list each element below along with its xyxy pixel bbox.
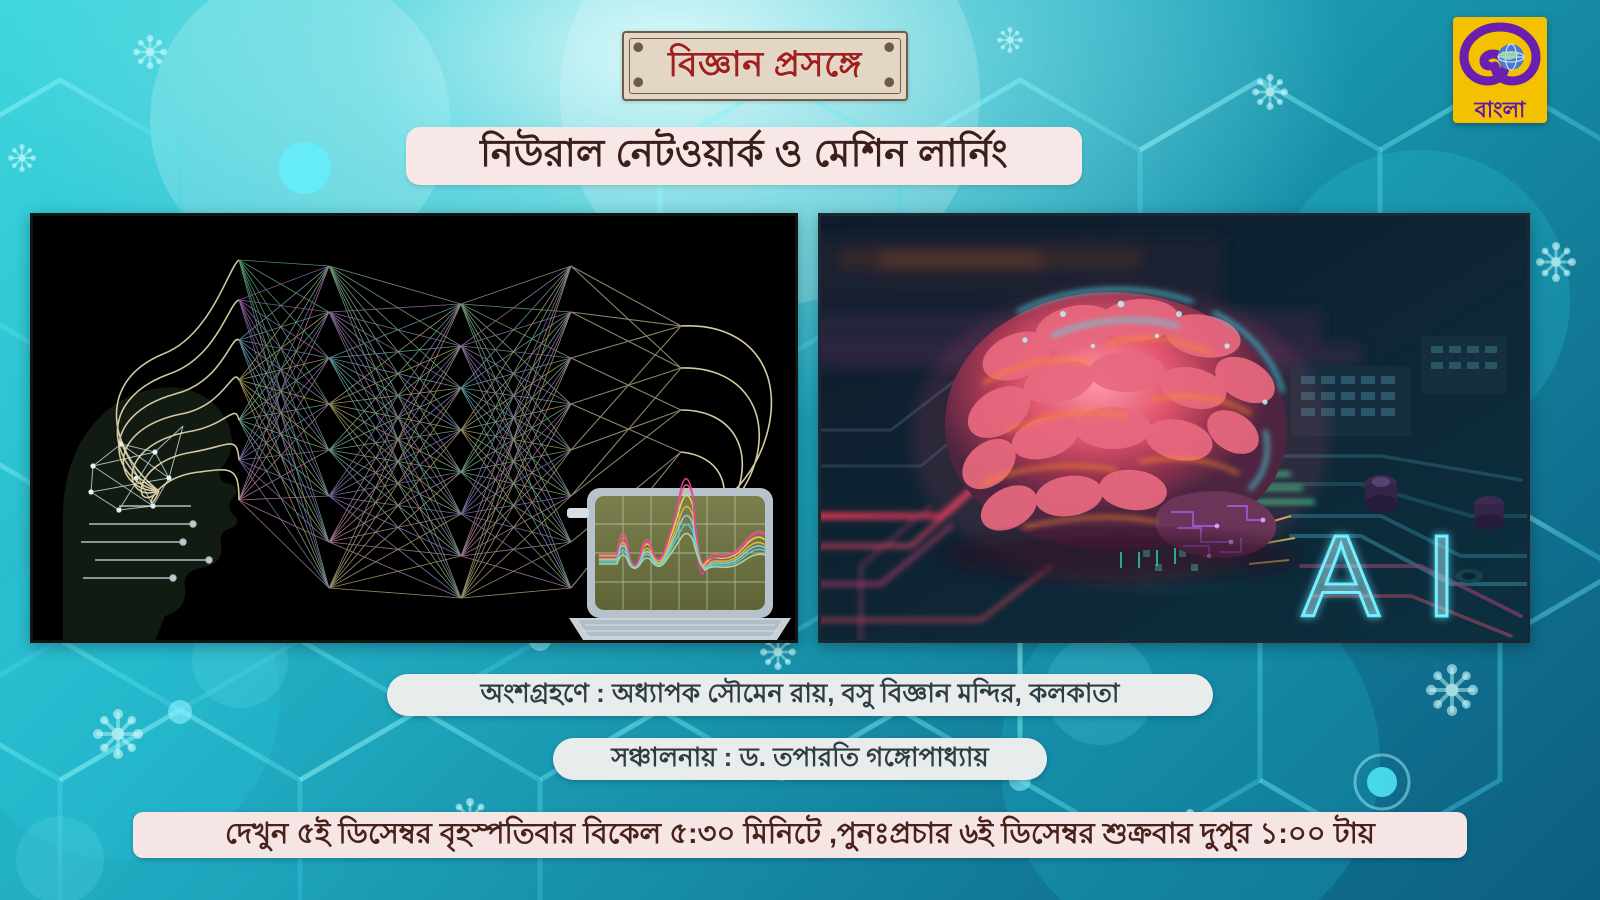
participant-credit-banner: অংশগ্রহণে : অধ্যাপক সৌমেন রায়, বসু বিজ্… xyxy=(387,674,1213,716)
neural-network-illustration xyxy=(30,213,798,643)
episode-title-text: নিউরাল নেটওয়ার্ক ও মেশিন লার্নিং xyxy=(480,124,1008,188)
broadcast-promo-slide: বিজ্ঞান প্রসঙ্গে নিউরাল নেটওয়ার্ক ও মেশ… xyxy=(0,0,1600,900)
svg-text:বাংলা: বাংলা xyxy=(1474,97,1527,122)
neural-network-graphic xyxy=(33,216,798,643)
ai-brain-circuit-image: A I A I xyxy=(818,213,1530,643)
series-title-text: বিজ্ঞান প্রসঙ্গে xyxy=(624,33,906,99)
broadcast-schedule-text: দেখুন ৫ই ডিসেম্বর বৃহস্পতিবার বিকেল ৫:৩০… xyxy=(225,811,1375,860)
dd-bangla-logo: বাংলা xyxy=(1453,17,1547,123)
episode-title-banner: নিউরাল নেটওয়ার্ক ও মেশিন লার্নিং xyxy=(406,127,1082,185)
series-title-banner: বিজ্ঞান প্রসঙ্গে xyxy=(622,31,908,101)
broadcast-schedule-banner: দেখুন ৫ই ডিসেম্বর বৃহস্পতিবার বিকেল ৫:৩০… xyxy=(133,812,1467,858)
brain-circuit-graphic: A I A I xyxy=(821,216,1530,643)
ai-overlay-text-fill: A I xyxy=(1302,511,1467,641)
laptop-graphic xyxy=(567,479,791,640)
brain-graphic xyxy=(911,286,1331,586)
participant-credit-text: অংশগ্রহণে : অধ্যাপক সৌমেন রায়, বসু বিজ্… xyxy=(481,673,1120,717)
anchor-credit-banner: সঞ্চালনায় : ড. তপারতি গঙ্গোপাধ্যায় xyxy=(553,738,1047,780)
anchor-credit-text: সঞ্চালনায় : ড. তপারতি গঙ্গোপাধ্যায় xyxy=(611,737,988,781)
dd-bangla-logo-icon: বাংলা xyxy=(1453,17,1547,123)
